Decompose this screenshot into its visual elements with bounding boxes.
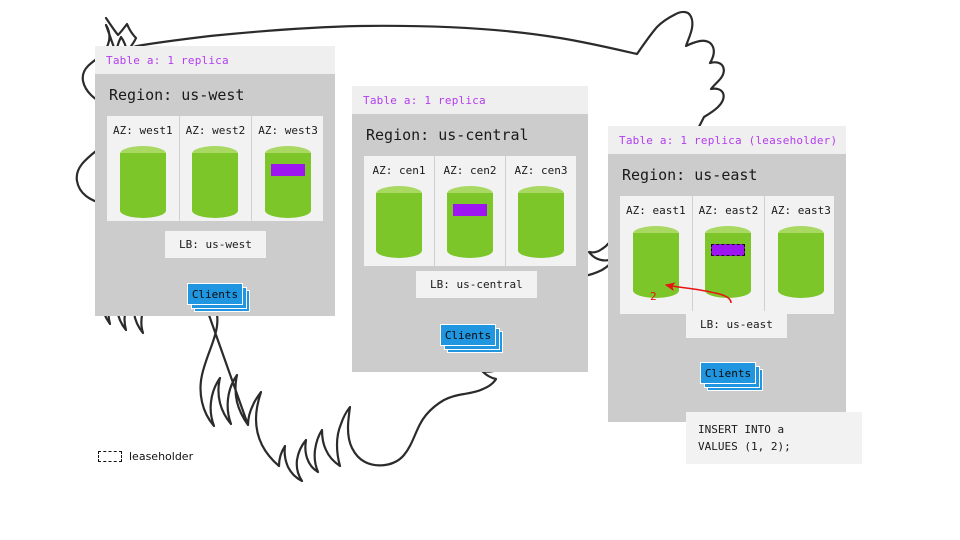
region-header-us-central: Table a: 1 replica <box>352 86 588 114</box>
clients-sheet-front[interactable]: Clients <box>700 362 756 384</box>
db-node-east1[interactable] <box>633 226 679 298</box>
az-row-us-west: AZ: west1 AZ: west2 AZ <box>107 116 323 221</box>
cylinder-body-icon <box>376 193 422 251</box>
replica-marker-west3 <box>271 164 305 176</box>
cylinder-body-icon <box>705 233 751 291</box>
cylinder-body-icon <box>447 193 493 251</box>
db-node-west2[interactable] <box>192 146 238 207</box>
load-balancer-us-central[interactable]: LB: us-central <box>416 271 537 298</box>
az-label-west3: AZ: west3 <box>258 124 318 137</box>
az-label-cen1: AZ: cen1 <box>373 164 426 177</box>
az-label-east3: AZ: east3 <box>771 204 831 217</box>
az-cell-cen2[interactable]: AZ: cen2 <box>434 156 505 266</box>
az-label-east2: AZ: east2 <box>699 204 759 217</box>
clients-us-west[interactable]: Clients <box>187 283 243 305</box>
region-title-us-central: Region: us-central <box>364 114 576 156</box>
leaseholder-marker-east2 <box>711 244 745 256</box>
cylinder-body-icon <box>120 153 166 211</box>
az-label-west1: AZ: west1 <box>113 124 173 137</box>
az-label-west2: AZ: west2 <box>186 124 246 137</box>
clients-sheet-front[interactable]: Clients <box>187 283 243 305</box>
load-balancer-us-west[interactable]: LB: us-west <box>165 231 266 258</box>
region-title-us-east: Region: us-east <box>620 154 834 196</box>
sql-statement-note: INSERT INTO a VALUES (1, 2); <box>686 412 862 464</box>
db-node-east2[interactable] <box>705 226 751 298</box>
az-cell-cen3[interactable]: AZ: cen3 <box>505 156 576 266</box>
cylinder-body-icon <box>633 233 679 291</box>
az-cell-east3[interactable]: AZ: east3 <box>764 196 837 314</box>
region-body-us-west: Region: us-west AZ: west1 AZ: west2 <box>95 74 335 316</box>
az-cell-east2[interactable]: AZ: east2 <box>692 196 765 314</box>
cylinder-body-icon <box>265 153 311 211</box>
region-panel-us-central: Table a: 1 replica Region: us-central AZ… <box>352 86 588 372</box>
az-cell-west1[interactable]: AZ: west1 <box>107 116 179 221</box>
clients-sheet-front[interactable]: Clients <box>440 324 496 346</box>
az-label-east1: AZ: east1 <box>626 204 686 217</box>
az-cell-west3[interactable]: AZ: west3 <box>251 116 324 221</box>
cylinder-body-icon <box>778 233 824 291</box>
diagram-canvas: Table a: 1 replica Region: us-west AZ: w… <box>0 0 960 540</box>
az-row-us-central: AZ: cen1 AZ: cen2 <box>364 156 576 266</box>
cylinder-body-icon <box>518 193 564 251</box>
clients-us-east[interactable]: Clients <box>700 362 756 384</box>
load-balancer-us-east[interactable]: LB: us-east <box>686 311 787 338</box>
region-header-us-east: Table a: 1 replica (leaseholder) <box>608 126 846 154</box>
region-title-us-west: Region: us-west <box>107 74 323 116</box>
region-header-us-west: Table a: 1 replica <box>95 46 335 74</box>
legend-label: leaseholder <box>129 450 193 463</box>
db-node-east3[interactable] <box>778 226 824 298</box>
az-label-cen2: AZ: cen2 <box>444 164 497 177</box>
db-node-cen1[interactable] <box>376 186 422 252</box>
clients-label: Clients <box>192 288 238 301</box>
clients-label: Clients <box>445 329 491 342</box>
az-label-cen3: AZ: cen3 <box>515 164 568 177</box>
replica-marker-cen2 <box>453 204 487 216</box>
clients-us-central[interactable]: Clients <box>440 324 496 346</box>
region-panel-us-east: Table a: 1 replica (leaseholder) Region:… <box>608 126 846 422</box>
db-node-west1[interactable] <box>120 146 166 207</box>
az-cell-cen1[interactable]: AZ: cen1 <box>364 156 434 266</box>
dashed-rect-icon <box>98 451 122 462</box>
legend: leaseholder <box>98 450 193 463</box>
db-node-cen3[interactable] <box>518 186 564 252</box>
cylinder-body-icon <box>192 153 238 211</box>
az-cell-west2[interactable]: AZ: west2 <box>179 116 252 221</box>
arrow-label-2: 2 <box>650 290 657 303</box>
db-node-west3[interactable] <box>265 146 311 207</box>
clients-label: Clients <box>705 367 751 380</box>
db-node-cen2[interactable] <box>447 186 493 252</box>
region-panel-us-west: Table a: 1 replica Region: us-west AZ: w… <box>95 46 335 316</box>
